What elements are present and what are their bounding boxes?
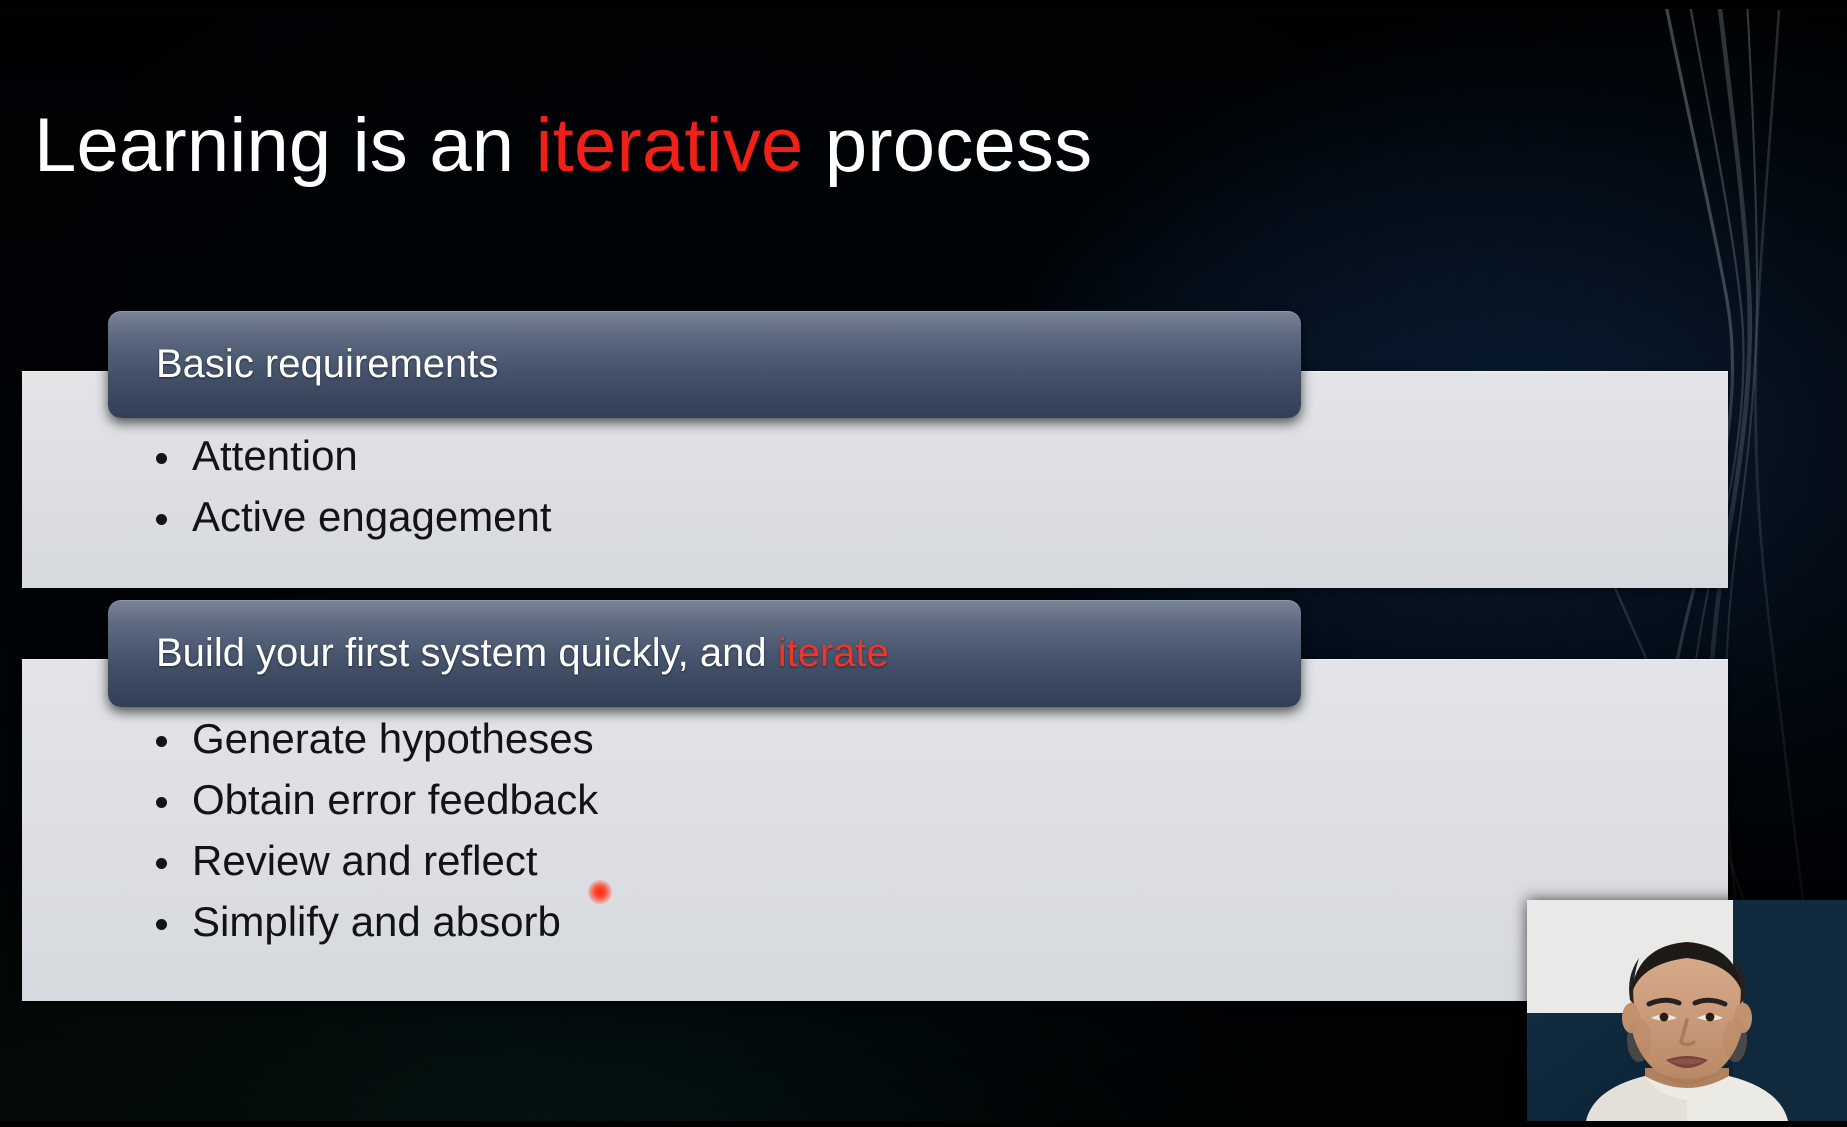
list-item: Generate hypotheses <box>152 708 598 769</box>
list-item: Review and reflect <box>152 830 598 891</box>
slide-title: Learning is an iterative process <box>34 100 1092 192</box>
content-panel-build-first-system: Generate hypotheses Obtain error feedbac… <box>22 659 1728 1001</box>
slide-title-part-1: Learning is an <box>34 103 536 188</box>
laser-pointer-dot-icon <box>588 880 612 904</box>
section-header-accent: iterate <box>778 631 889 675</box>
letterbox-bottom-bar <box>0 1121 1847 1127</box>
letterbox-top-bar <box>0 0 1847 9</box>
section-header-label: Build your first system quickly, and ite… <box>108 631 889 676</box>
list-item: Attention <box>152 425 552 486</box>
bullet-list-basic-requirements: Attention Active engagement <box>152 425 552 547</box>
list-item: Obtain error feedback <box>152 769 598 830</box>
presenter-webcam-overlay[interactable] <box>1527 900 1847 1127</box>
section-header-text: Basic requirements <box>156 342 498 386</box>
section-header-label: Basic requirements <box>108 342 498 387</box>
section-header-build-first-system: Build your first system quickly, and ite… <box>108 600 1301 707</box>
slide-canvas: Learning is an iterative process Attenti… <box>0 0 1847 1127</box>
bullet-list-build-first-system: Generate hypotheses Obtain error feedbac… <box>152 708 598 952</box>
section-header-basic-requirements: Basic requirements <box>108 311 1301 418</box>
list-item: Simplify and absorb <box>152 891 598 952</box>
list-item: Active engagement <box>152 486 552 547</box>
slide-title-accent: iterative <box>536 103 804 188</box>
slide-title-part-2: process <box>804 103 1093 188</box>
section-header-text: Build your first system quickly, and <box>156 631 778 675</box>
